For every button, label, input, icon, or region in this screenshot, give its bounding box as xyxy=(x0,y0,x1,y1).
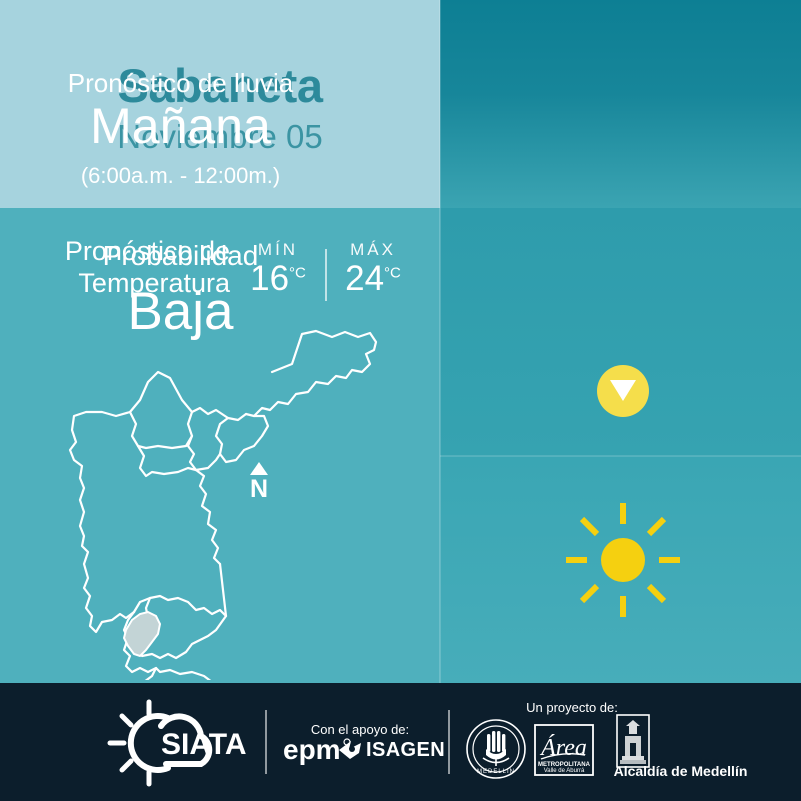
area-logo-svg: Área METROPOLITANA Valle de Aburrá xyxy=(533,719,595,781)
sun-icon-svg xyxy=(560,497,686,623)
epm-logo-text: epm xyxy=(283,734,341,765)
triangle-down-icon xyxy=(597,365,649,417)
siata-logo: SIATA xyxy=(106,698,264,788)
isagen-logo-text: ISAGEN xyxy=(366,739,445,762)
rain-forecast-period: Mañana xyxy=(0,100,361,153)
area-metropolitana-logo: Área METROPOLITANA Valle de Aburrá xyxy=(533,719,595,781)
probability-value: Baja xyxy=(0,281,361,342)
map-division-east-valley xyxy=(196,470,220,564)
rain-forecast-label: Pronóstico de lluvia xyxy=(0,68,361,99)
probability-panel xyxy=(440,208,801,456)
udem-seal-text: MEDELLIN xyxy=(477,769,515,775)
map-division-north xyxy=(130,412,192,448)
compass-north-icon: N xyxy=(240,462,278,517)
map-svg xyxy=(40,320,400,680)
map-region-copacabana xyxy=(188,408,228,470)
udem-seal-svg: MEDELLIN xyxy=(465,718,527,780)
compass-letter: N xyxy=(240,476,278,502)
probability-label: Probabilidad xyxy=(0,240,361,272)
universidad-de-medellin-seal: MEDELLIN xyxy=(465,718,527,780)
map-division-envigado xyxy=(134,564,226,616)
siata-logo-text: SIATA xyxy=(161,728,247,761)
isagen-mark-icon xyxy=(337,738,363,762)
rain-forecast-panel xyxy=(440,0,801,208)
map-division-medellin-north xyxy=(138,446,196,476)
sun-core xyxy=(601,538,645,582)
weather-infographic: Sabaneta Noviembre 05 Pronóstico de lluv… xyxy=(0,0,801,801)
triangle-down-glyph xyxy=(610,380,636,401)
rain-forecast-hours: (6:00a.m. - 12:00m.) xyxy=(0,163,361,189)
sun-icon xyxy=(560,497,686,623)
isagen-logo: ISAGEN xyxy=(337,735,447,765)
panel-horizontal-seam xyxy=(440,455,801,457)
siata-logo-svg: SIATA xyxy=(106,698,264,788)
alcaldia-label: Alcaldía de Medellín xyxy=(598,763,763,779)
footer-divider-2 xyxy=(448,710,450,774)
valle-de-aburra-map xyxy=(40,320,400,680)
map-region-girardota-east xyxy=(216,414,268,462)
panel-vertical-seam xyxy=(439,0,441,683)
area-logo-line2: Valle de Aburrá xyxy=(544,768,585,774)
map-region-west-outline xyxy=(70,372,192,632)
compass-arrow-icon xyxy=(250,462,268,475)
map-region-barbosa xyxy=(246,331,376,416)
footer-divider-1 xyxy=(265,710,267,774)
temperature-max-unit: °C xyxy=(384,264,401,281)
map-region-caldas xyxy=(92,668,218,680)
